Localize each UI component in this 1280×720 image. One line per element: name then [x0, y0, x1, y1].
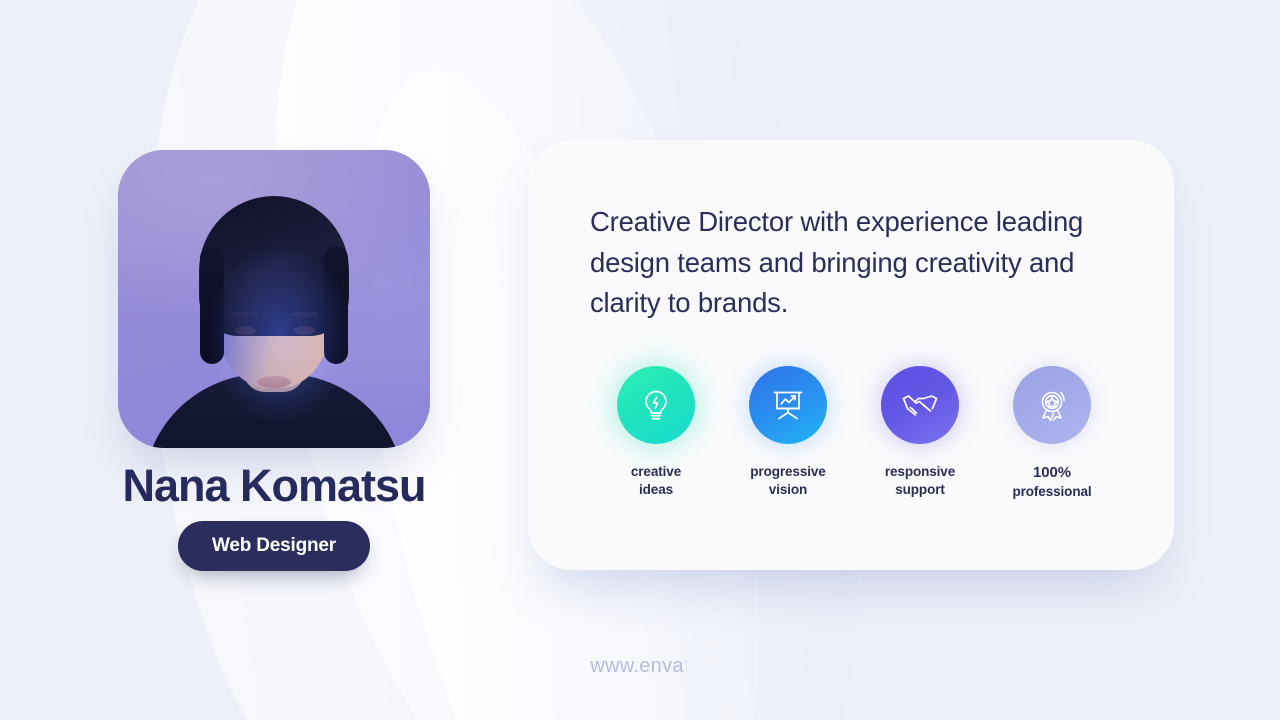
presentation-chart-icon: [766, 383, 810, 427]
feature-label: progressive vision: [750, 463, 825, 499]
profile-block: Nana Komatsu Web Designer: [118, 150, 430, 571]
feature-label-line2: ideas: [631, 481, 681, 499]
role-badge: Web Designer: [178, 521, 370, 571]
feature-item-100-professional[interactable]: 100% professional: [986, 366, 1118, 501]
feature-label-line1: creative: [631, 463, 681, 481]
feature-item-responsive-support[interactable]: responsive support: [854, 366, 986, 501]
headline-text: Creative Director with experience leadin…: [590, 202, 1118, 324]
feature-label-line1: 100%: [1012, 463, 1091, 483]
feature-label-line1: responsive: [885, 463, 955, 481]
person-name: Nana Komatsu: [122, 462, 425, 509]
feature-label-line1: progressive: [750, 463, 825, 481]
feature-icon-circle: [1013, 366, 1091, 444]
feature-label: creative ideas: [631, 463, 681, 499]
watermark-trailing-char: t: [684, 655, 690, 677]
feature-list: creative ideas: [590, 366, 1118, 501]
profile-photo-card: [118, 150, 430, 448]
watermark-text: www.enva: [590, 655, 684, 677]
award-medal-icon: [1030, 383, 1074, 427]
watermark: www.envat: [0, 655, 1280, 678]
feature-icon-circle: [617, 366, 695, 444]
feature-item-creative-ideas[interactable]: creative ideas: [590, 366, 722, 501]
info-card: Creative Director with experience leadin…: [528, 140, 1174, 570]
feature-label: responsive support: [885, 463, 955, 499]
feature-label-line2: professional: [1012, 483, 1091, 501]
lightbulb-icon: [635, 384, 677, 426]
feature-label-line2: support: [885, 481, 955, 499]
feature-label: 100% professional: [1012, 463, 1091, 501]
photo-blue-light-glow: [205, 239, 355, 429]
slide-canvas: Nana Komatsu Web Designer Creative Direc…: [0, 0, 1280, 720]
feature-icon-circle: [881, 366, 959, 444]
feature-label-line2: vision: [750, 481, 825, 499]
feature-icon-circle: [749, 366, 827, 444]
handshake-icon: [897, 382, 943, 428]
feature-item-progressive-vision[interactable]: progressive vision: [722, 366, 854, 501]
